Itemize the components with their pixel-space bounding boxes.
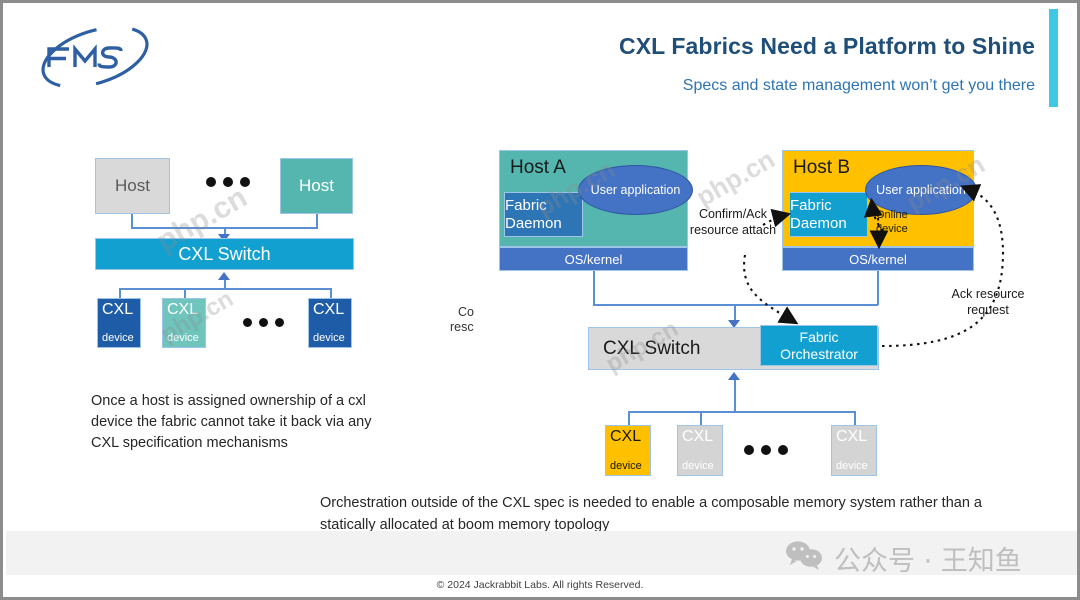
right-device-3: CXL device (831, 425, 877, 476)
left-device-ellipsis (243, 318, 284, 327)
left-dev1-drop (119, 288, 121, 298)
right-device-feed (734, 380, 736, 412)
left-device-1-sub: device (102, 333, 134, 344)
slide-canvas: CXL Fabrics Need a Platform to Shine Spe… (0, 0, 1080, 600)
left-device-3-sub: device (313, 333, 345, 344)
left-cxl-switch-label: CXL Switch (178, 244, 270, 265)
copyright-text: © 2024 Jackrabbit Labs. All rights Reser… (3, 579, 1077, 591)
right-cxl-switch-label: CXL Switch (603, 338, 701, 360)
page-title: CXL Fabrics Need a Platform to Shine (335, 33, 1035, 60)
host-a-label: Host A (510, 157, 566, 179)
online-device-annotation: Online device (876, 208, 922, 237)
left-host-ellipsis (206, 177, 250, 187)
host-a-os-kernel: OS/kernel (499, 247, 688, 271)
wechat-watermark-text: 公众号 · 王知鱼 (834, 539, 1022, 578)
fms-logo (25, 21, 165, 93)
host-a-fabric-daemon-label: Fabric Daemon (505, 197, 582, 232)
right-device-2-sub: device (682, 461, 714, 472)
ack-resource-annotation: Ack resource request (938, 286, 1038, 319)
left-device-1-title: CXL (102, 302, 133, 318)
left-device-2-sub: device (167, 333, 199, 344)
left-device-bus (119, 288, 331, 290)
confirm-ack-annotation: Confirm/Ack resource attach (687, 206, 779, 239)
page-subtitle: Specs and state management won’t get you… (335, 77, 1035, 95)
host-b-fabric-daemon-label: Fabric Daemon (790, 197, 867, 232)
wechat-icon (785, 540, 823, 577)
right-device-1: CXL device (605, 425, 651, 476)
host-b-fabric-daemon: Fabric Daemon (789, 192, 868, 237)
left-device-2-title: CXL (167, 302, 198, 318)
fabric-orchestrator-label: Fabric Orchestrator (761, 329, 877, 363)
right-device-2: CXL device (677, 425, 723, 476)
host-a-user-application-label: User application (591, 183, 681, 197)
left-host-2: Host (280, 158, 353, 214)
left-device-2: CXL device (162, 298, 206, 348)
left-note: Once a host is assigned ownership of a c… (91, 391, 401, 454)
left-dev3-drop (330, 288, 332, 298)
right-device-arrow (728, 372, 740, 380)
left-host1-drop (131, 214, 133, 228)
left-device-3-title: CXL (313, 302, 344, 318)
host-b-user-application-label: User application (876, 183, 966, 197)
right-device-1-sub: device (610, 461, 642, 472)
right-device-bus (628, 411, 856, 413)
host-b-label: Host B (793, 157, 850, 179)
host-b-os-kernel-label: OS/kernel (849, 252, 907, 267)
clipped-annotation-line2: resc (450, 318, 484, 336)
host-a-os-kernel-label: OS/kernel (565, 252, 623, 267)
bottom-note: Orchestration outside of the CXL spec is… (320, 493, 1035, 537)
left-device-arrow (218, 272, 230, 280)
host-b-os-kernel: OS/kernel (782, 247, 974, 271)
right-device-1-title: CXL (610, 429, 641, 445)
left-host-1: Host (95, 158, 170, 214)
right-dev3-drop (854, 411, 856, 425)
left-host-2-label: Host (299, 176, 334, 196)
host-b-drop (877, 271, 879, 305)
header-accent-bar (1049, 9, 1058, 107)
fabric-orchestrator: Fabric Orchestrator (760, 325, 878, 366)
left-device-1: CXL device (97, 298, 141, 348)
host-a-user-application: User application (578, 165, 693, 215)
host-a-fabric-daemon: Fabric Daemon (504, 192, 583, 237)
host-a-drop (593, 271, 595, 305)
left-cxl-switch: CXL Switch (95, 238, 354, 270)
left-dev2-drop (184, 288, 186, 298)
right-device-ellipsis (744, 445, 788, 455)
right-device-3-title: CXL (836, 429, 867, 445)
right-dev1-drop (628, 411, 630, 425)
wechat-watermark: 公众号 · 王知鱼 (785, 539, 1022, 578)
left-host-1-label: Host (115, 176, 150, 196)
right-device-2-title: CXL (682, 429, 713, 445)
right-device-3-sub: device (836, 461, 868, 472)
left-host2-drop (316, 214, 318, 228)
left-device-3: CXL device (308, 298, 352, 348)
right-dev2-drop (700, 411, 702, 425)
diagram-watermark-right-2: php.cn (691, 144, 780, 213)
